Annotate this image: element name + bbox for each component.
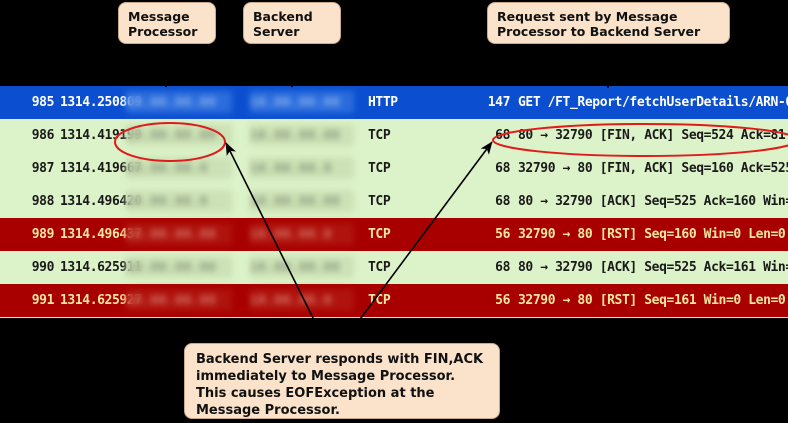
- packet-number: 991: [8, 284, 54, 317]
- callout-request-description: Request sent by Message Processor to Bac…: [487, 2, 730, 44]
- table-row[interactable]: 991 1314.625927 10.00.00.00 10.00.00.0 T…: [0, 284, 788, 317]
- packet-info: 80 → 32790 [ACK] Seq=525 Ack=161 Win=268…: [518, 251, 788, 284]
- table-row[interactable]: 986 1314.419199 10.00.00.00 10.00.00.00 …: [0, 119, 788, 152]
- table-row[interactable]: 987 1314.419667 10.00.00.0 10.00.00.0 TC…: [0, 152, 788, 185]
- packet-source-redacted: 10.00.00.0: [126, 157, 232, 179]
- callout-backend-server: Backend Server: [243, 2, 341, 44]
- packet-info: 80 → 32790 [FIN, ACK] Seq=524 Ack=81 Win…: [518, 119, 788, 152]
- table-row[interactable]: 990 1314.625911 10.00.00.00 10.00.00.00 …: [0, 251, 788, 284]
- packet-protocol: TCP: [368, 185, 438, 218]
- packet-length: 147: [470, 86, 510, 119]
- table-row[interactable]: 985 1314.250809 10.00.00.00 10.00.00.00 …: [0, 86, 788, 119]
- packet-number: 985: [8, 86, 54, 119]
- packet-protocol: TCP: [368, 218, 438, 251]
- packet-source-redacted: 10.00.00.00: [126, 124, 232, 146]
- packet-protocol: TCP: [368, 251, 438, 284]
- packet-length: 68: [470, 152, 510, 185]
- packet-source-redacted: 10.00.00.0: [126, 190, 232, 212]
- packet-info: 80 → 32790 [ACK] Seq=525 Ack=160 Win=268…: [518, 185, 788, 218]
- packet-source-redacted: 10.00.00.00: [126, 289, 232, 311]
- packet-source-redacted: 10.00.00.00: [126, 91, 232, 113]
- packet-protocol: TCP: [368, 152, 438, 185]
- table-row[interactable]: 989 1314.496437 10.00.00.00 10.00.00.0 T…: [0, 218, 788, 251]
- packet-protocol: TCP: [368, 119, 438, 152]
- packet-number: 988: [8, 185, 54, 218]
- callout-finack-explanation: Backend Server responds with FIN,ACK imm…: [184, 343, 500, 419]
- packet-destination-redacted: 10.00.00.00: [250, 91, 354, 113]
- packet-length: 56: [470, 284, 510, 317]
- packet-destination-redacted: 10.00.00.00: [250, 256, 354, 278]
- packet-destination-redacted: 10.00.00.0: [250, 223, 354, 245]
- packet-length: 68: [470, 119, 510, 152]
- table-row[interactable]: 988 1314.496420 10.00.00.0 10.00.00.00 T…: [0, 185, 788, 218]
- callout-message-processor: Message Processor: [118, 2, 216, 44]
- packet-source-redacted: 10.00.00.00: [126, 256, 232, 278]
- packet-number: 987: [8, 152, 54, 185]
- packet-protocol: TCP: [368, 284, 438, 317]
- packet-number: 989: [8, 218, 54, 251]
- packet-info: GET /FT_Report/fetchUserDetails/ARN-0262…: [518, 86, 788, 119]
- packet-info: 32790 → 80 [RST] Seq=160 Win=0 Len=0: [518, 218, 788, 251]
- packet-number: 986: [8, 119, 54, 152]
- packet-info: 32790 → 80 [RST] Seq=161 Win=0 Len=0: [518, 284, 788, 317]
- packet-source-redacted: 10.00.00.00: [126, 223, 232, 245]
- packet-destination-redacted: 10.00.00.0: [250, 289, 354, 311]
- packet-protocol: HTTP: [368, 86, 438, 119]
- packet-length: 68: [470, 251, 510, 284]
- packet-list-pane[interactable]: 985 1314.250809 10.00.00.00 10.00.00.00 …: [0, 86, 788, 318]
- packet-destination-redacted: 10.00.00.00: [250, 124, 354, 146]
- packet-info: 32790 → 80 [FIN, ACK] Seq=160 Ack=525 Wi…: [518, 152, 788, 185]
- packet-destination-redacted: 10.00.00.0: [250, 157, 354, 179]
- packet-destination-redacted: 10.00.00.00: [250, 190, 354, 212]
- packet-length: 56: [470, 218, 510, 251]
- packet-number: 990: [8, 251, 54, 284]
- packet-length: 68: [470, 185, 510, 218]
